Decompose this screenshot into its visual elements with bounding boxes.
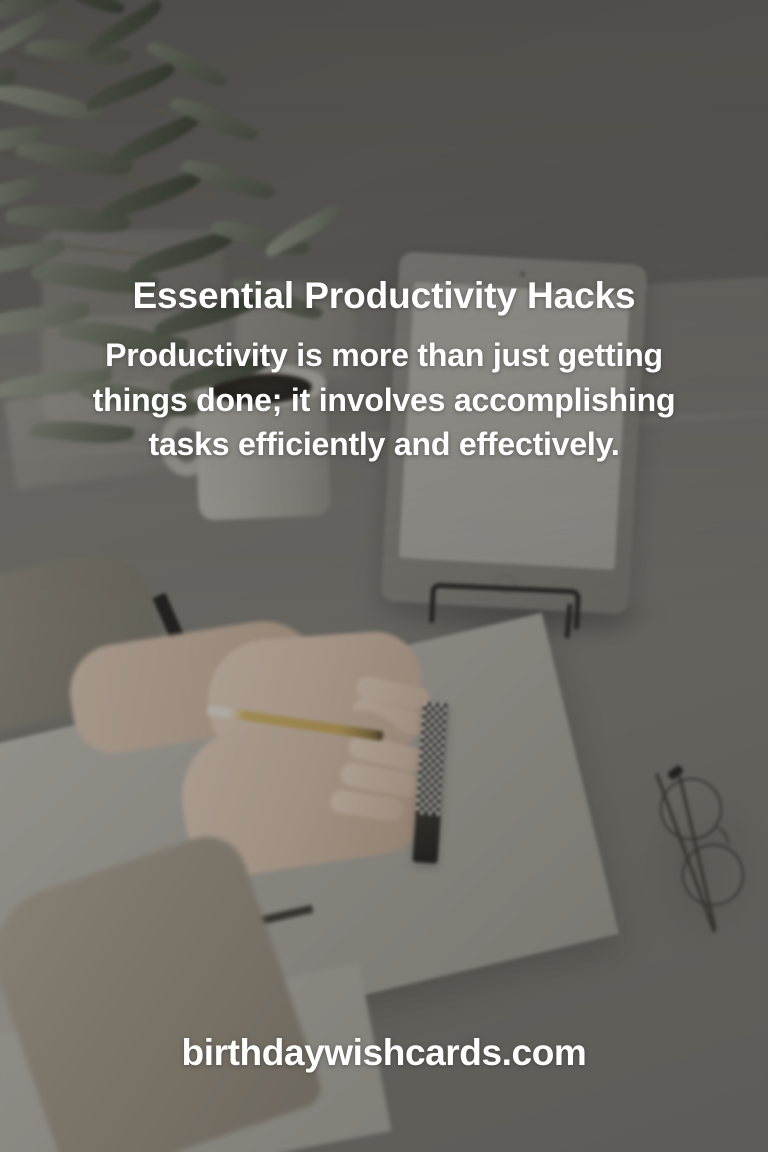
- site-url-watermark: birthdaywishcards.com: [0, 1032, 768, 1074]
- page-title: Essential Productivity Hacks: [34, 277, 734, 316]
- text-layer: Essential Productivity Hacks Productivit…: [0, 0, 768, 1152]
- pinterest-quote-card: Essential Productivity Hacks Productivit…: [0, 0, 768, 1152]
- quote-body-text: Productivity is more than just getting t…: [84, 333, 684, 467]
